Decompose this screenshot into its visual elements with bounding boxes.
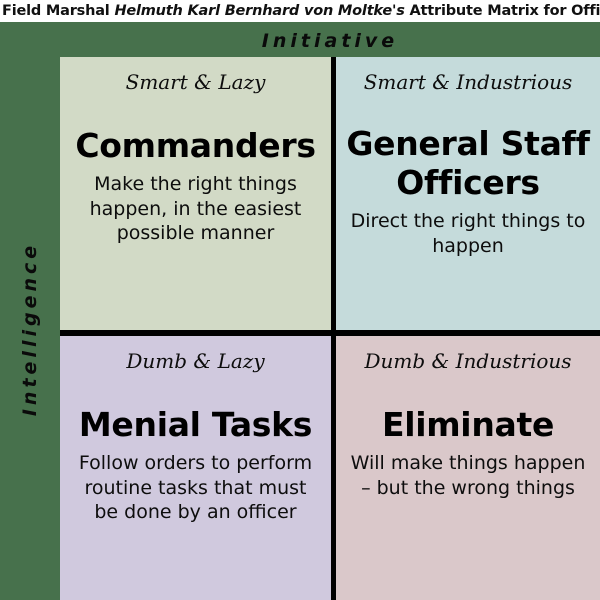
quadrant-name: Eliminate bbox=[346, 406, 590, 445]
quadrant-name: General Staff Officers bbox=[346, 125, 590, 203]
quadrant-description: Direct the right things to happen bbox=[346, 209, 590, 258]
quadrant-subtitle: Dumb & Lazy bbox=[70, 349, 321, 374]
page-title-emphasis: Helmuth Karl Bernhard von Moltke's bbox=[114, 3, 404, 19]
quadrant-subtitle: Dumb & Industrious bbox=[346, 349, 590, 374]
quadrant-name: Commanders bbox=[70, 127, 321, 166]
quadrant-smart-lazy[interactable]: Smart & Lazy Commanders Make the right t… bbox=[60, 57, 331, 330]
quadrant-description: Make the right things happen, in the eas… bbox=[70, 172, 321, 246]
attribute-matrix: Smart & Lazy Commanders Make the right t… bbox=[60, 57, 600, 600]
quadrant-smart-industrious[interactable]: Smart & Industrious General Staff Office… bbox=[336, 57, 600, 330]
y-axis-label-wrapper: Intelligence bbox=[0, 57, 60, 600]
quadrant-dumb-lazy[interactable]: Dumb & Lazy Menial Tasks Follow orders t… bbox=[60, 336, 331, 600]
page-title-suffix: Attribute Matrix for Office bbox=[405, 3, 600, 19]
quadrant-name: Menial Tasks bbox=[70, 406, 321, 445]
quadrant-description: Will make things happen – but the wrong … bbox=[346, 451, 590, 500]
y-axis-label: Intelligence bbox=[19, 241, 41, 415]
page-title-prefix: Field Marshal bbox=[2, 3, 114, 19]
quadrant-subtitle: Smart & Industrious bbox=[346, 70, 590, 95]
page-title: Field Marshal Helmuth Karl Bernhard von … bbox=[0, 0, 600, 22]
quadrant-dumb-industrious[interactable]: Dumb & Industrious Eliminate Will make t… bbox=[336, 336, 600, 600]
x-axis-label: Initiative bbox=[60, 24, 600, 57]
quadrant-subtitle: Smart & Lazy bbox=[70, 70, 321, 95]
quadrant-description: Follow orders to perform routine tasks t… bbox=[70, 451, 321, 525]
